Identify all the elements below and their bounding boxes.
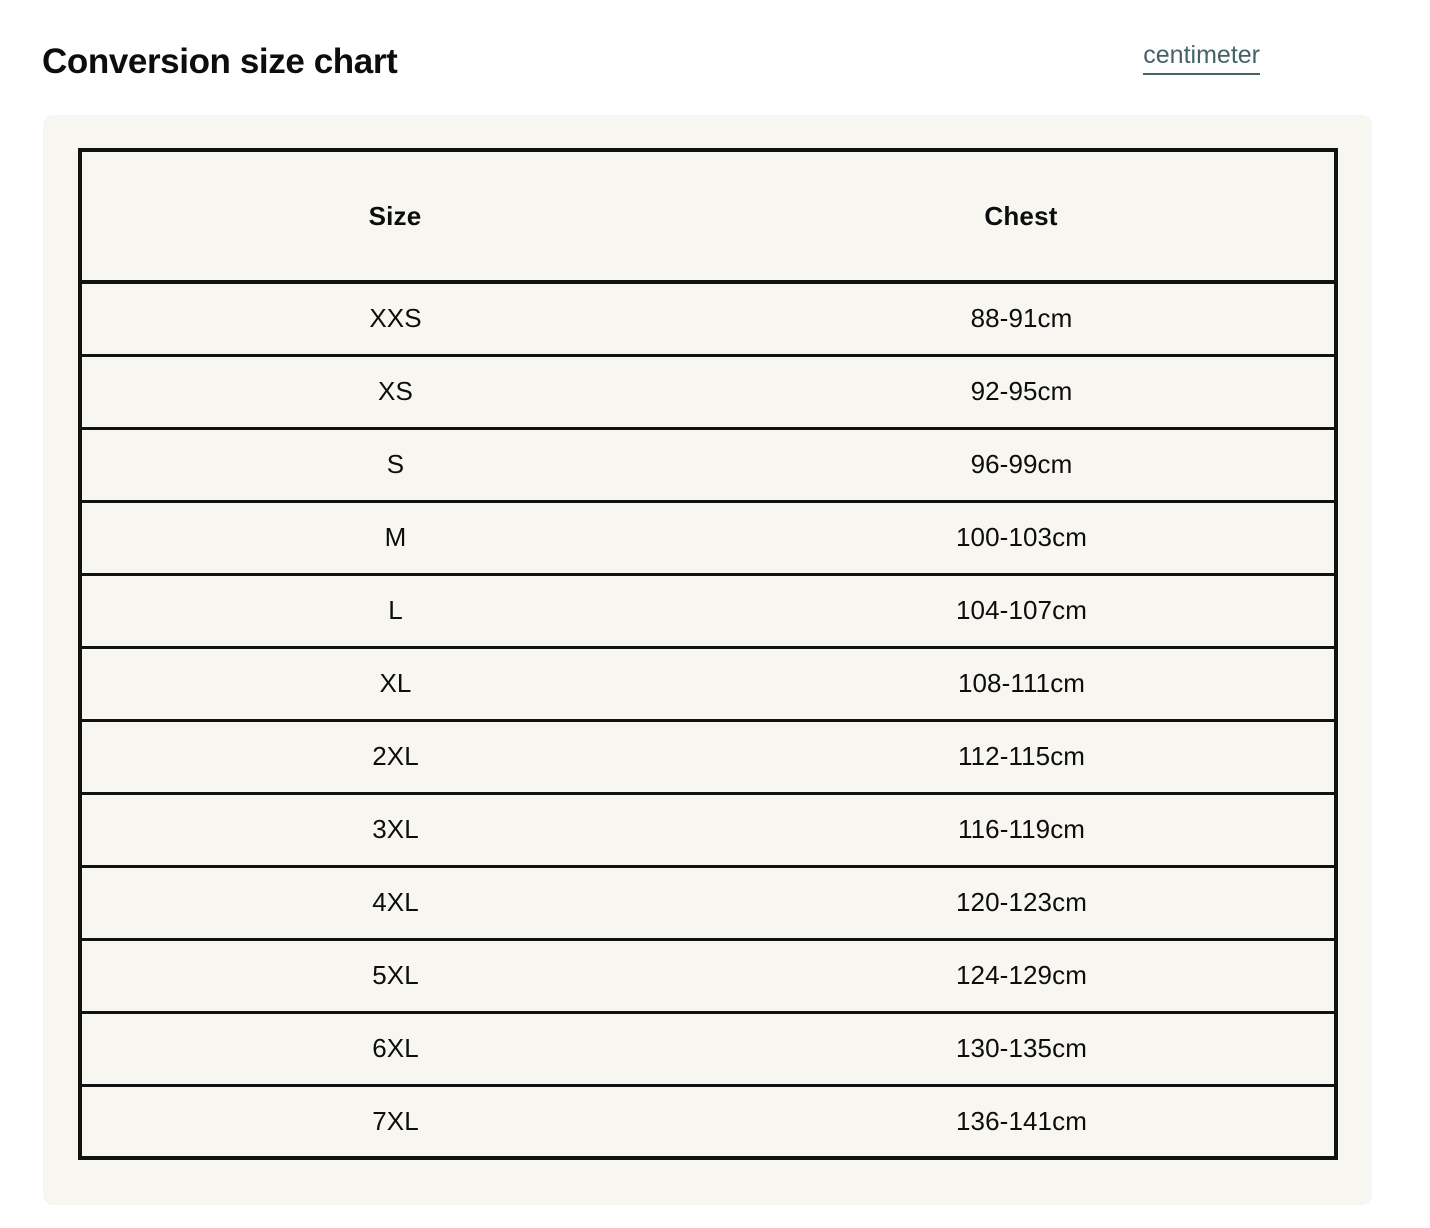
table-row: S96-99cm — [80, 428, 1336, 501]
conversion-size-table: Size Chest XXS88-91cmXS92-95cmS96-99cmM1… — [78, 148, 1338, 1160]
cell-chest: 124-129cm — [708, 939, 1336, 1012]
cell-chest: 136-141cm — [708, 1085, 1336, 1158]
cell-size: XL — [80, 647, 708, 720]
unit-toggle-link[interactable]: centimeter — [1143, 42, 1260, 75]
cell-size: L — [80, 574, 708, 647]
size-chart-card: Size Chest XXS88-91cmXS92-95cmS96-99cmM1… — [43, 115, 1372, 1205]
cell-size: 3XL — [80, 793, 708, 866]
cell-size: 5XL — [80, 939, 708, 1012]
table-row: 2XL112-115cm — [80, 720, 1336, 793]
table-row: 3XL116-119cm — [80, 793, 1336, 866]
table-header: Size Chest — [80, 150, 1336, 282]
table-body: XXS88-91cmXS92-95cmS96-99cmM100-103cmL10… — [80, 282, 1336, 1158]
cell-chest: 108-111cm — [708, 647, 1336, 720]
table-header-row: Size Chest — [80, 150, 1336, 282]
cell-size: 4XL — [80, 866, 708, 939]
table-row: XS92-95cm — [80, 355, 1336, 428]
page-title: Conversion size chart — [42, 36, 397, 79]
column-header-size: Size — [80, 150, 708, 282]
cell-chest: 92-95cm — [708, 355, 1336, 428]
cell-chest: 96-99cm — [708, 428, 1336, 501]
table-row: 6XL130-135cm — [80, 1012, 1336, 1085]
cell-chest: 104-107cm — [708, 574, 1336, 647]
cell-size: 7XL — [80, 1085, 708, 1158]
cell-size: S — [80, 428, 708, 501]
column-header-chest: Chest — [708, 150, 1336, 282]
cell-size: XS — [80, 355, 708, 428]
cell-chest: 88-91cm — [708, 282, 1336, 355]
cell-chest: 116-119cm — [708, 793, 1336, 866]
cell-size: 6XL — [80, 1012, 708, 1085]
table-row: 7XL136-141cm — [80, 1085, 1336, 1158]
table-row: XL108-111cm — [80, 647, 1336, 720]
table-row: 5XL124-129cm — [80, 939, 1336, 1012]
cell-size: XXS — [80, 282, 708, 355]
table-row: M100-103cm — [80, 501, 1336, 574]
table-row: XXS88-91cm — [80, 282, 1336, 355]
table-row: L104-107cm — [80, 574, 1336, 647]
cell-chest: 130-135cm — [708, 1012, 1336, 1085]
cell-chest: 100-103cm — [708, 501, 1336, 574]
cell-size: 2XL — [80, 720, 708, 793]
page-header: Conversion size chart centimeter — [0, 0, 1430, 115]
cell-chest: 112-115cm — [708, 720, 1336, 793]
table-row: 4XL120-123cm — [80, 866, 1336, 939]
cell-size: M — [80, 501, 708, 574]
cell-chest: 120-123cm — [708, 866, 1336, 939]
